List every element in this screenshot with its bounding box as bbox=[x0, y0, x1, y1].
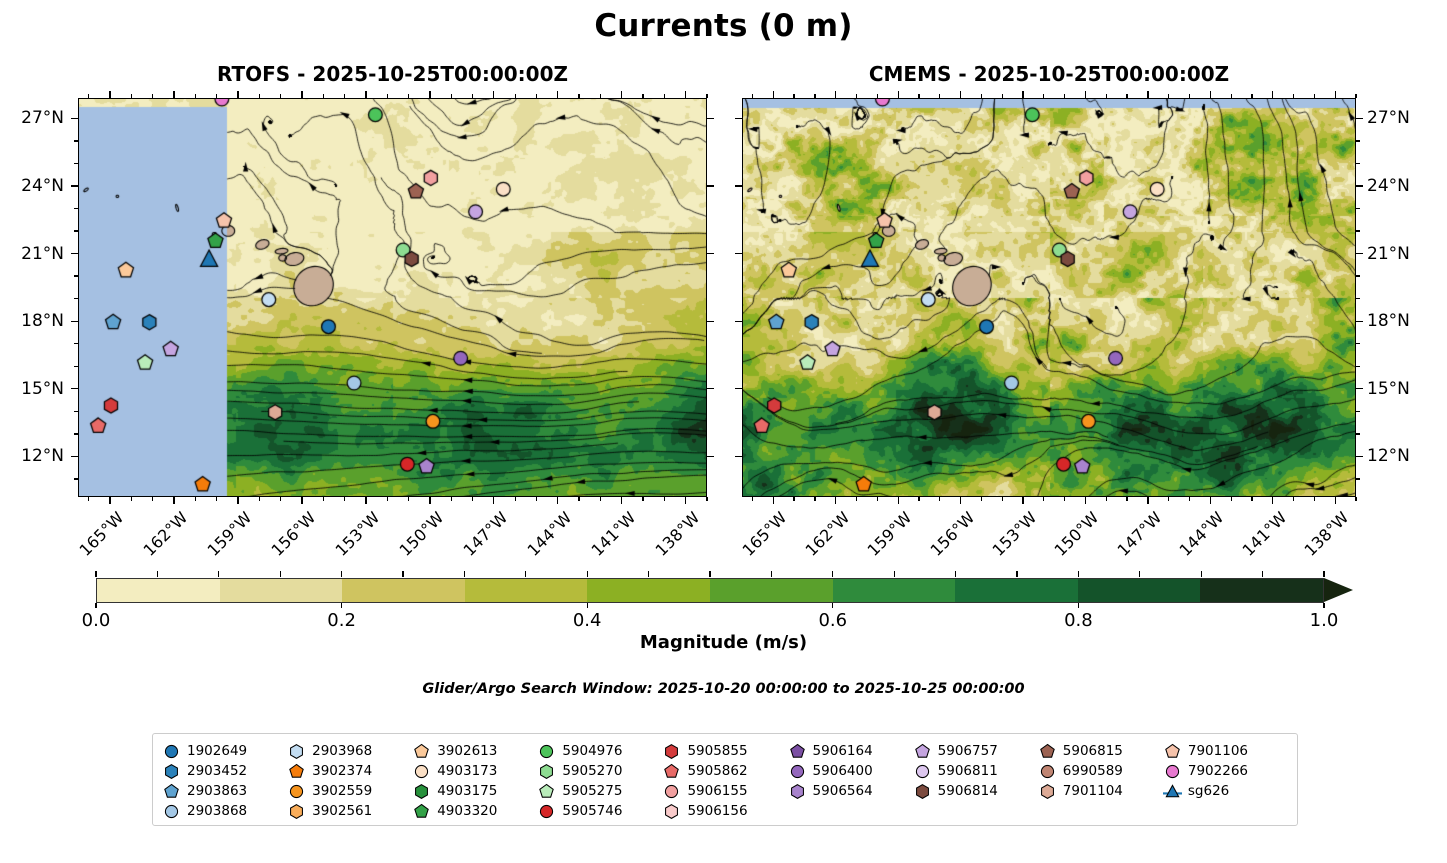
xtick-minor bbox=[1314, 497, 1315, 501]
xtick-major bbox=[301, 497, 302, 504]
xtick-minor bbox=[1168, 497, 1169, 501]
colorbar-tick bbox=[1323, 603, 1324, 608]
ytick-label: 15°N bbox=[2, 379, 64, 399]
legend-label: 7901106 bbox=[1188, 743, 1248, 759]
legend-marker-pentagon-icon bbox=[287, 762, 306, 781]
colorbar-tick-label: 0.4 bbox=[547, 610, 627, 631]
legend-item-2903863[interactable]: 2903863 bbox=[162, 781, 287, 801]
xtick-minor bbox=[642, 497, 643, 501]
ytick-major bbox=[1356, 118, 1363, 119]
xtick-minor bbox=[664, 497, 665, 501]
colorbar-tick-label: 0.8 bbox=[1038, 610, 1118, 631]
legend-label: 5906811 bbox=[938, 763, 998, 779]
ytick-minor bbox=[74, 208, 78, 209]
legend-marker-hexagon-icon bbox=[287, 742, 306, 761]
xtick-minor-top bbox=[1314, 94, 1315, 98]
ytick-major bbox=[71, 321, 78, 322]
legend-label: 2903868 bbox=[187, 803, 247, 819]
xtick-label: 165°W bbox=[76, 508, 128, 560]
colorbar-tick bbox=[832, 603, 833, 608]
legend-label: 5906156 bbox=[687, 803, 747, 819]
xtick-minor-top bbox=[752, 94, 753, 98]
ytick-minor bbox=[74, 343, 78, 344]
xtick-minor bbox=[793, 497, 794, 501]
figure-canvas: Currents (0 m) RTOFS - 2025-10-25T00:00:… bbox=[0, 0, 1447, 863]
legend-label: 1902649 bbox=[187, 743, 247, 759]
ytick-major-opp bbox=[735, 456, 742, 457]
ytick-label: 15°N bbox=[1367, 379, 1429, 399]
legend-marker-hexagon-icon bbox=[913, 782, 932, 801]
legend-marker-pentagon-icon bbox=[1163, 742, 1182, 761]
xtick-minor bbox=[1231, 497, 1232, 501]
colorbar-tick bbox=[341, 603, 342, 608]
xtick-minor bbox=[706, 497, 707, 501]
xtick-major-top bbox=[1147, 91, 1148, 98]
legend-item-5906155[interactable]: 5906155 bbox=[662, 781, 787, 801]
legend-marker-hexagon-icon bbox=[662, 802, 681, 821]
ytick-minor bbox=[1356, 208, 1360, 209]
xtick-minor bbox=[1251, 497, 1252, 501]
legend-label: 2903452 bbox=[187, 763, 247, 779]
xtick-major-top bbox=[898, 91, 899, 98]
legend-item-7901106[interactable]: 7901106 bbox=[1163, 741, 1288, 761]
xtick-minor bbox=[1106, 497, 1107, 501]
xtick-minor bbox=[451, 497, 452, 501]
ytick-minor bbox=[74, 230, 78, 231]
colorbar-tick-top bbox=[157, 571, 158, 577]
xtick-label: 141°W bbox=[1238, 508, 1290, 560]
xtick-label: 162°W bbox=[139, 508, 191, 560]
legend-item-sg626[interactable]: sg626 bbox=[1163, 781, 1288, 801]
xtick-major bbox=[1272, 497, 1273, 504]
colorbar-tick-top bbox=[1016, 571, 1017, 577]
xtick-minor-top bbox=[323, 94, 324, 98]
xtick-minor bbox=[752, 497, 753, 501]
xtick-minor bbox=[472, 497, 473, 501]
legend-item-5906564[interactable]: 5906564 bbox=[788, 781, 913, 801]
legend-label: 5905275 bbox=[562, 783, 622, 799]
xtick-major-top bbox=[301, 91, 302, 98]
colorbar-tick-top bbox=[1201, 571, 1202, 577]
xtick-minor bbox=[88, 497, 89, 501]
legend-label: 4903175 bbox=[437, 783, 497, 799]
xtick-major bbox=[685, 497, 686, 504]
ytick-minor bbox=[1356, 478, 1360, 479]
xtick-minor-top bbox=[1002, 94, 1003, 98]
ytick-label: 24°N bbox=[2, 176, 64, 196]
xtick-major-top bbox=[773, 91, 774, 98]
legend-item-5905270[interactable]: 5905270 bbox=[537, 761, 662, 781]
xtick-major-top bbox=[835, 91, 836, 98]
legend-label: 3902561 bbox=[312, 803, 372, 819]
colorbar-tick-label: 0.0 bbox=[56, 610, 136, 631]
colorbar-tick-label: 0.6 bbox=[793, 610, 873, 631]
colorbar-tick-top bbox=[1323, 571, 1324, 577]
xtick-minor-top bbox=[1231, 94, 1232, 98]
colorbar-band-0 bbox=[97, 579, 220, 602]
legend-label: 2903863 bbox=[187, 783, 247, 799]
colorbar-band-1 bbox=[220, 579, 343, 602]
legend-marker-glider-track-icon bbox=[1163, 782, 1182, 801]
colorbar-tick bbox=[1078, 603, 1079, 608]
colorbar-tick-top bbox=[218, 571, 219, 577]
legend-label: 4903173 bbox=[437, 763, 497, 779]
legend-label: 5905862 bbox=[687, 763, 747, 779]
colorbar-tick bbox=[95, 603, 96, 608]
legend-marker-pentagon-icon bbox=[537, 782, 556, 801]
colorbar-band-7 bbox=[955, 579, 1078, 602]
xtick-minor bbox=[344, 497, 345, 501]
xtick-major bbox=[960, 497, 961, 504]
legend-marker-hexagon-icon bbox=[662, 742, 681, 761]
xtick-minor bbox=[387, 497, 388, 501]
ytick-major bbox=[1356, 388, 1363, 389]
xtick-major-top bbox=[960, 91, 961, 98]
colorbar-band-6 bbox=[833, 579, 956, 602]
xtick-minor bbox=[578, 497, 579, 501]
legend-marker-circle-icon bbox=[287, 782, 306, 801]
legend-item-3902561[interactable]: 3902561 bbox=[287, 801, 412, 821]
ytick-minor bbox=[74, 298, 78, 299]
legend-item-5905862[interactable]: 5905862 bbox=[662, 761, 787, 781]
xtick-minor bbox=[1293, 497, 1294, 501]
ytick-label: 21°N bbox=[2, 244, 64, 264]
legend-marker-pentagon-icon bbox=[913, 742, 932, 761]
legend-label: 5906564 bbox=[813, 783, 873, 799]
legend-marker-circle-icon bbox=[537, 802, 556, 821]
colorbar-label: Magnitude (m/s) bbox=[0, 632, 1447, 653]
xtick-minor-top bbox=[856, 94, 857, 98]
xtick-minor-top bbox=[259, 94, 260, 98]
legend-label: 5905855 bbox=[687, 743, 747, 759]
legend-item-5905746[interactable]: 5905746 bbox=[537, 801, 662, 821]
legend-label: 3902559 bbox=[312, 783, 372, 799]
colorbar-band-2 bbox=[342, 579, 465, 602]
legend-item-2903868[interactable]: 2903868 bbox=[162, 801, 287, 821]
ytick-major bbox=[71, 185, 78, 186]
xtick-minor-top bbox=[1293, 94, 1294, 98]
ytick-major-opp bbox=[707, 388, 714, 389]
xtick-minor bbox=[1355, 497, 1356, 501]
xtick-minor-top bbox=[642, 94, 643, 98]
ytick-minor bbox=[74, 275, 78, 276]
colorbar-tick-top bbox=[1139, 571, 1140, 577]
map-panel-cmems[interactable] bbox=[742, 98, 1356, 497]
xtick-label: 156°W bbox=[267, 508, 319, 560]
ytick-minor bbox=[1356, 343, 1360, 344]
legend-item-6990589[interactable]: 6990589 bbox=[1038, 761, 1163, 781]
xtick-minor bbox=[814, 497, 815, 501]
xtick-minor bbox=[1189, 497, 1190, 501]
legend-label: 5906814 bbox=[938, 783, 998, 799]
xtick-major-top bbox=[429, 91, 430, 98]
legend-item-5906400[interactable]: 5906400 bbox=[788, 761, 913, 781]
xtick-minor bbox=[600, 497, 601, 501]
colorbar-tick-top bbox=[464, 571, 465, 577]
ytick-minor bbox=[74, 163, 78, 164]
legend-item-5906814[interactable]: 5906814 bbox=[913, 781, 1038, 801]
legend-marker-circle-icon bbox=[1038, 762, 1057, 781]
ytick-minor bbox=[1356, 140, 1360, 141]
ytick-minor bbox=[1356, 433, 1360, 434]
legend-label: 4903320 bbox=[437, 803, 497, 819]
xtick-minor-top bbox=[451, 94, 452, 98]
float-legend: 1902649290345229038632903868290396839023… bbox=[152, 733, 1298, 826]
ytick-major bbox=[1356, 253, 1363, 254]
legend-marker-hexagon-icon bbox=[162, 762, 181, 781]
legend-grid: 1902649290345229038632903868290396839023… bbox=[162, 741, 1288, 821]
xtick-minor bbox=[408, 497, 409, 501]
legend-label: 2903968 bbox=[312, 743, 372, 759]
ytick-major-opp bbox=[735, 185, 742, 186]
ytick-major-opp bbox=[707, 321, 714, 322]
colorbar-tick-top bbox=[894, 571, 895, 577]
xtick-minor-top bbox=[1064, 94, 1065, 98]
colorbar-tick bbox=[587, 603, 588, 608]
colorbar-tick-label: 0.2 bbox=[302, 610, 382, 631]
xtick-minor bbox=[195, 497, 196, 501]
ytick-minor bbox=[74, 433, 78, 434]
xtick-minor-top bbox=[195, 94, 196, 98]
legend-marker-circle-icon bbox=[788, 762, 807, 781]
xtick-minor bbox=[152, 497, 153, 501]
xtick-minor-top bbox=[387, 94, 388, 98]
legend-label: 3902613 bbox=[437, 743, 497, 759]
xtick-minor-top bbox=[472, 94, 473, 98]
xtick-minor-top bbox=[216, 94, 217, 98]
xtick-major bbox=[237, 497, 238, 504]
legend-marker-hexagon-icon bbox=[788, 782, 807, 801]
xtick-minor-top bbox=[1251, 94, 1252, 98]
legend-label: 5906400 bbox=[813, 763, 873, 779]
ytick-major-opp bbox=[735, 253, 742, 254]
ytick-label: 21°N bbox=[1367, 244, 1429, 264]
xtick-major bbox=[365, 497, 366, 504]
colorbar-tick-top bbox=[1262, 571, 1263, 577]
legend-marker-circle-icon bbox=[1163, 762, 1182, 781]
ytick-label: 12°N bbox=[1367, 446, 1429, 466]
colorbar-tick-top bbox=[587, 571, 588, 577]
xtick-label: 156°W bbox=[926, 508, 978, 560]
legend-item-4903175[interactable]: 4903175 bbox=[412, 781, 537, 801]
colorbar-band-9 bbox=[1200, 579, 1323, 602]
legend-label: 3902374 bbox=[312, 763, 372, 779]
ytick-minor bbox=[1356, 163, 1360, 164]
legend-item-5905855[interactable]: 5905855 bbox=[662, 741, 787, 761]
xtick-minor-top bbox=[1168, 94, 1169, 98]
xtick-minor-top bbox=[1126, 94, 1127, 98]
xtick-minor bbox=[939, 497, 940, 501]
ytick-label: 24°N bbox=[1367, 176, 1429, 196]
legend-item-3902613[interactable]: 3902613 bbox=[412, 741, 537, 761]
ytick-major-opp bbox=[707, 118, 714, 119]
xtick-minor-top bbox=[152, 94, 153, 98]
xtick-major-top bbox=[109, 91, 110, 98]
legend-label: 5905746 bbox=[562, 803, 622, 819]
legend-item-7902266[interactable]: 7902266 bbox=[1163, 761, 1288, 781]
xtick-minor-top bbox=[939, 94, 940, 98]
colorbar-tick-top bbox=[771, 571, 772, 577]
xtick-major bbox=[173, 497, 174, 504]
ytick-major bbox=[71, 118, 78, 119]
legend-item-5906757[interactable]: 5906757 bbox=[913, 741, 1038, 761]
xtick-minor bbox=[856, 497, 857, 501]
xtick-minor-top bbox=[578, 94, 579, 98]
legend-marker-pentagon-icon bbox=[1038, 742, 1057, 761]
xtick-major-top bbox=[557, 91, 558, 98]
xtick-label: 159°W bbox=[864, 508, 916, 560]
colorbar-band-3 bbox=[465, 579, 588, 602]
xtick-minor-top bbox=[1189, 94, 1190, 98]
xtick-label: 141°W bbox=[587, 508, 639, 560]
ytick-major-opp bbox=[707, 185, 714, 186]
legend-item-1902649[interactable]: 1902649 bbox=[162, 741, 287, 761]
colorbar-tick-top bbox=[709, 571, 710, 577]
xtick-label: 147°W bbox=[1113, 508, 1165, 560]
xtick-minor-top bbox=[344, 94, 345, 98]
legend-label: 5906757 bbox=[938, 743, 998, 759]
legend-marker-circle-icon bbox=[162, 742, 181, 761]
xtick-major bbox=[109, 497, 110, 504]
colorbar[interactable] bbox=[96, 578, 1355, 603]
xtick-major bbox=[493, 497, 494, 504]
xtick-major-top bbox=[1085, 91, 1086, 98]
ytick-major bbox=[71, 388, 78, 389]
ytick-minor bbox=[74, 366, 78, 367]
xtick-minor bbox=[536, 497, 537, 501]
xtick-minor-top bbox=[918, 94, 919, 98]
legend-label: 5904976 bbox=[562, 743, 622, 759]
xtick-label: 144°W bbox=[1176, 508, 1228, 560]
legend-label: 6990589 bbox=[1063, 763, 1123, 779]
ytick-minor bbox=[74, 478, 78, 479]
xtick-minor bbox=[259, 497, 260, 501]
legend-item-7901104[interactable]: 7901104 bbox=[1038, 781, 1163, 801]
legend-item-5906164[interactable]: 5906164 bbox=[788, 741, 913, 761]
legend-item-3902559[interactable]: 3902559 bbox=[287, 781, 412, 801]
legend-marker-pentagon-icon bbox=[662, 762, 681, 781]
legend-item-2903968[interactable]: 2903968 bbox=[287, 741, 412, 761]
xtick-major-top bbox=[685, 91, 686, 98]
xtick-label: 147°W bbox=[459, 508, 511, 560]
legend-marker-hexagon-icon bbox=[1038, 782, 1057, 801]
legend-marker-circle-icon bbox=[913, 762, 932, 781]
xtick-minor bbox=[1043, 497, 1044, 501]
xtick-label: 159°W bbox=[203, 508, 255, 560]
legend-label: 5906815 bbox=[1063, 743, 1123, 759]
xtick-minor-top bbox=[1043, 94, 1044, 98]
xtick-minor-top bbox=[536, 94, 537, 98]
xtick-minor bbox=[877, 497, 878, 501]
xtick-major-top bbox=[173, 91, 174, 98]
ytick-major bbox=[1356, 456, 1363, 457]
xtick-minor bbox=[216, 497, 217, 501]
xtick-major-top bbox=[1210, 91, 1211, 98]
legend-marker-pentagon-icon bbox=[412, 742, 431, 761]
ytick-minor bbox=[1356, 411, 1360, 412]
xtick-minor-top bbox=[877, 94, 878, 98]
legend-item-5904976[interactable]: 5904976 bbox=[537, 741, 662, 761]
legend-item-3902374[interactable]: 3902374 bbox=[287, 761, 412, 781]
legend-marker-hexagon-icon bbox=[537, 762, 556, 781]
colorbar-band-4 bbox=[587, 579, 710, 602]
legend-item-4903173[interactable]: 4903173 bbox=[412, 761, 537, 781]
legend-label: 5906164 bbox=[813, 743, 873, 759]
xtick-label: 162°W bbox=[801, 508, 853, 560]
colorbar-over-arrow bbox=[1324, 578, 1353, 602]
legend-label: 5905270 bbox=[562, 763, 622, 779]
legend-marker-circle-icon bbox=[537, 742, 556, 761]
legend-marker-circle-icon bbox=[412, 762, 431, 781]
legend-item-5906815[interactable]: 5906815 bbox=[1038, 741, 1163, 761]
legend-item-5905275[interactable]: 5905275 bbox=[537, 781, 662, 801]
xtick-major bbox=[621, 497, 622, 504]
xtick-major bbox=[557, 497, 558, 504]
colorbar-tick-top bbox=[832, 571, 833, 577]
ytick-label: 27°N bbox=[1367, 108, 1429, 128]
legend-label: 5906155 bbox=[687, 783, 747, 799]
xtick-major bbox=[429, 497, 430, 504]
colorbar-tick-top bbox=[95, 571, 96, 577]
ytick-major-opp bbox=[735, 388, 742, 389]
xtick-minor bbox=[918, 497, 919, 501]
legend-item-4903320[interactable]: 4903320 bbox=[412, 801, 537, 821]
xtick-minor-top bbox=[814, 94, 815, 98]
legend-marker-hexagon-icon bbox=[412, 782, 431, 801]
ytick-major-opp bbox=[735, 118, 742, 119]
xtick-minor-top bbox=[131, 94, 132, 98]
ytick-major bbox=[1356, 321, 1363, 322]
colorbar-tick-label: 1.0 bbox=[1284, 610, 1364, 631]
legend-label: 7901104 bbox=[1063, 783, 1123, 799]
xtick-major bbox=[773, 497, 774, 504]
map-panel-rtofs[interactable] bbox=[78, 98, 707, 497]
xtick-minor bbox=[131, 497, 132, 501]
xtick-minor bbox=[515, 497, 516, 501]
legend-marker-pentagon-icon bbox=[412, 802, 431, 821]
xtick-major bbox=[1022, 497, 1023, 504]
legend-item-5906156[interactable]: 5906156 bbox=[662, 801, 787, 821]
legend-marker-circle-icon bbox=[162, 802, 181, 821]
xtick-minor-top bbox=[981, 94, 982, 98]
legend-label: sg626 bbox=[1188, 783, 1229, 799]
search-window-caption: Glider/Argo Search Window: 2025-10-20 00… bbox=[0, 681, 1447, 697]
panel-title-rtofs: RTOFS - 2025-10-25T00:00:00Z bbox=[78, 62, 707, 86]
xtick-label: 144°W bbox=[523, 508, 575, 560]
xtick-major-top bbox=[493, 91, 494, 98]
xtick-minor-top bbox=[408, 94, 409, 98]
ytick-minor bbox=[74, 411, 78, 412]
legend-marker-hexagon-icon bbox=[287, 802, 306, 821]
xtick-major-top bbox=[1022, 91, 1023, 98]
xtick-minor bbox=[280, 497, 281, 501]
xtick-label: 153°W bbox=[331, 508, 383, 560]
xtick-minor-top bbox=[600, 94, 601, 98]
colorbar-band-5 bbox=[710, 579, 833, 602]
xtick-minor bbox=[981, 497, 982, 501]
xtick-minor-top bbox=[706, 94, 707, 98]
xtick-major bbox=[835, 497, 836, 504]
xtick-major bbox=[1147, 497, 1148, 504]
legend-item-5906811[interactable]: 5906811 bbox=[913, 761, 1038, 781]
xtick-minor-top bbox=[88, 94, 89, 98]
xtick-minor bbox=[323, 497, 324, 501]
colorbar-tick-top bbox=[525, 571, 526, 577]
legend-item-2903452[interactable]: 2903452 bbox=[162, 761, 287, 781]
colorbar-band-8 bbox=[1078, 579, 1201, 602]
ytick-label: 12°N bbox=[2, 446, 64, 466]
ytick-label: 18°N bbox=[2, 311, 64, 331]
